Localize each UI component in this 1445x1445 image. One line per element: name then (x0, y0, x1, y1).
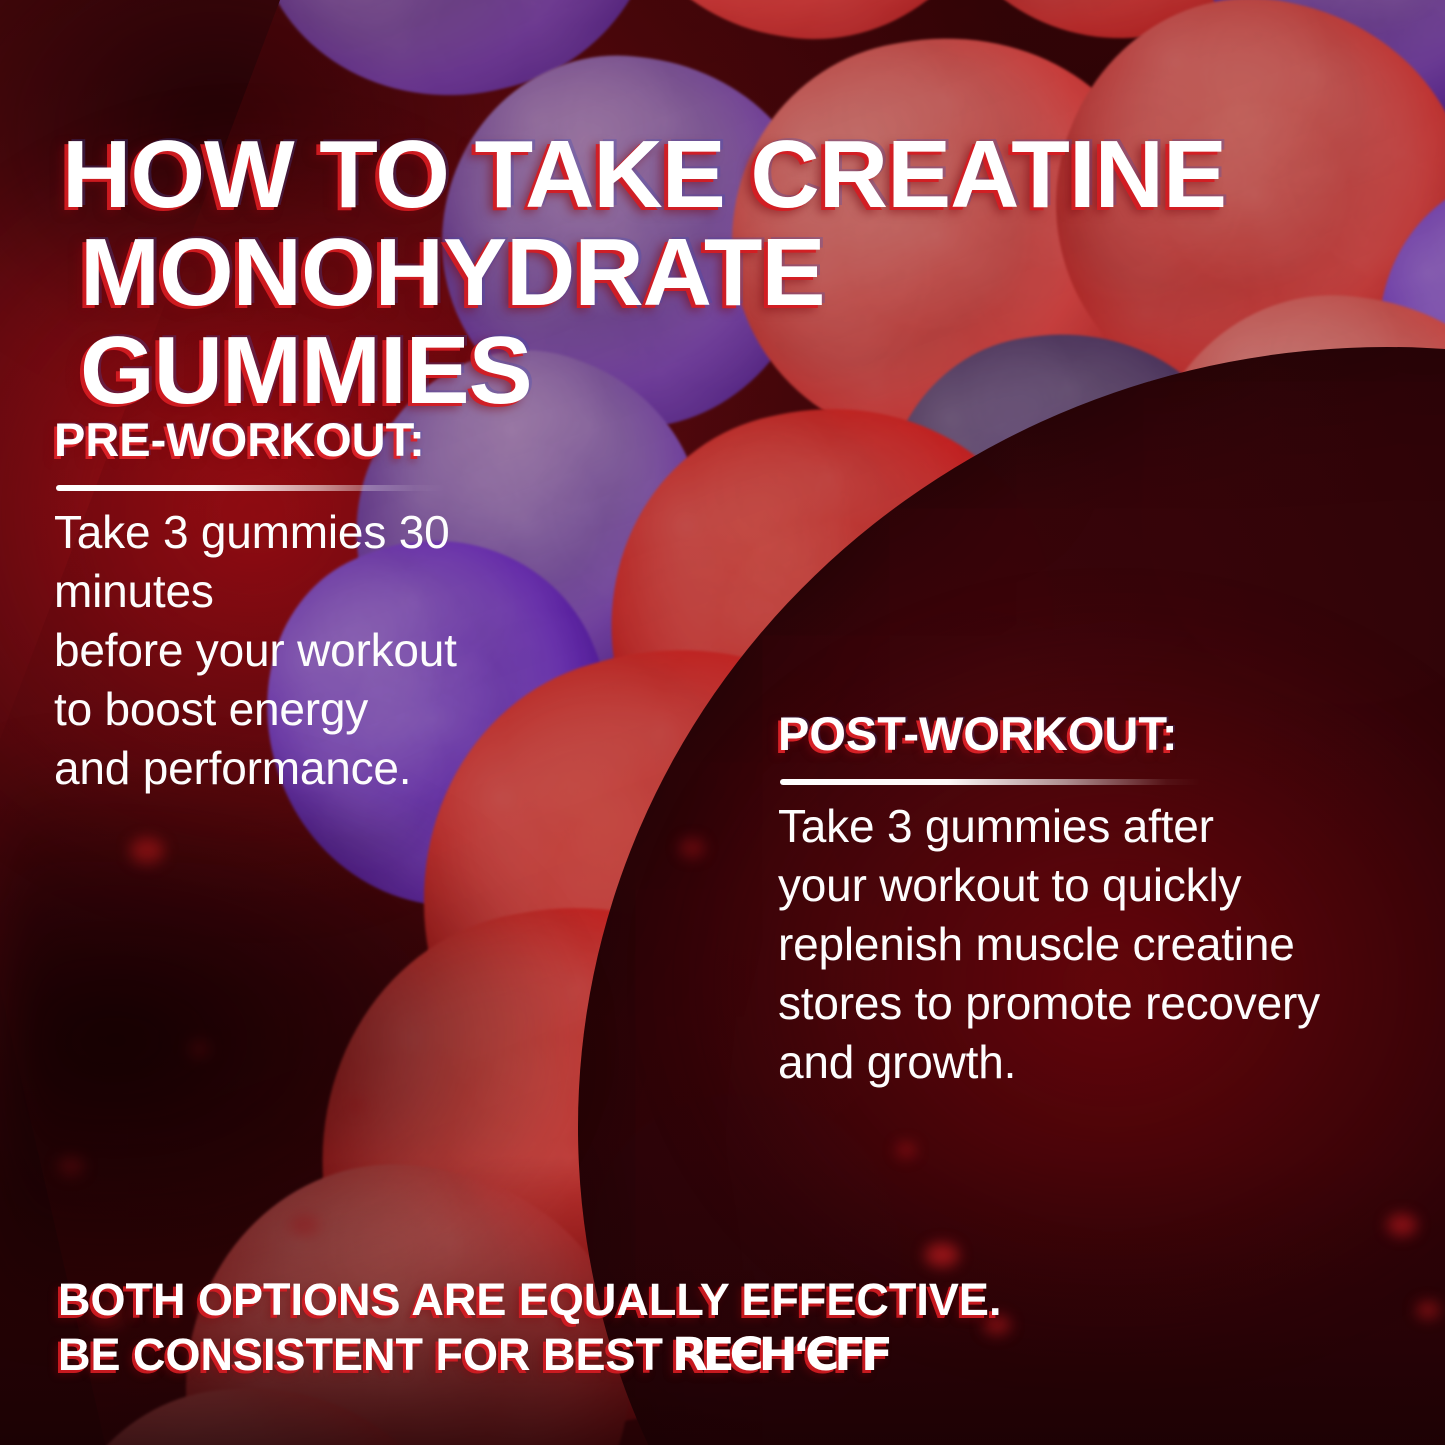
section-divider (780, 779, 1200, 785)
footer-line-2-text: BE CONSISTENT FOR BEST (58, 1329, 676, 1380)
footer-line-1: BOTH OPTIONS ARE EQUALLY EFFECTIVE. (58, 1274, 1001, 1325)
text-content: HOW TO TAKE CREATINE MONOHYDRATE GUMMIES… (0, 0, 1445, 1445)
footer-callout: BOTH OPTIONS ARE EQUALLY EFFECTIVE. BE C… (58, 1273, 1368, 1383)
page-title-line2: MONOHYDRATE GUMMIES (62, 224, 1262, 420)
poster-canvas: HOW TO TAKE CREATINE MONOHYDRATE GUMMIES… (0, 0, 1445, 1445)
section-post-workout-heading: POST-WORKOUT: (778, 706, 1408, 761)
section-post-workout-body: Take 3 gummies after your workout to qui… (778, 797, 1408, 1091)
footer-line-2: BE CONSISTENT FOR BEST REЄHʻЄFF (58, 1328, 1368, 1383)
page-title-line1: HOW TO TAKE CREATINE (62, 121, 1226, 228)
footer-glitched-text: REЄHʻЄFF (671, 1328, 887, 1383)
section-divider (56, 485, 446, 491)
section-pre-workout: PRE-WORKOUT: Take 3 gummies 30 minutes b… (54, 412, 574, 797)
section-pre-workout-body: Take 3 gummies 30 minutes before your wo… (54, 503, 574, 797)
page-title: HOW TO TAKE CREATINE MONOHYDRATE GUMMIES (62, 126, 1262, 420)
section-post-workout: POST-WORKOUT: Take 3 gummies after your … (778, 706, 1408, 1091)
section-pre-workout-heading: PRE-WORKOUT: (54, 412, 574, 467)
